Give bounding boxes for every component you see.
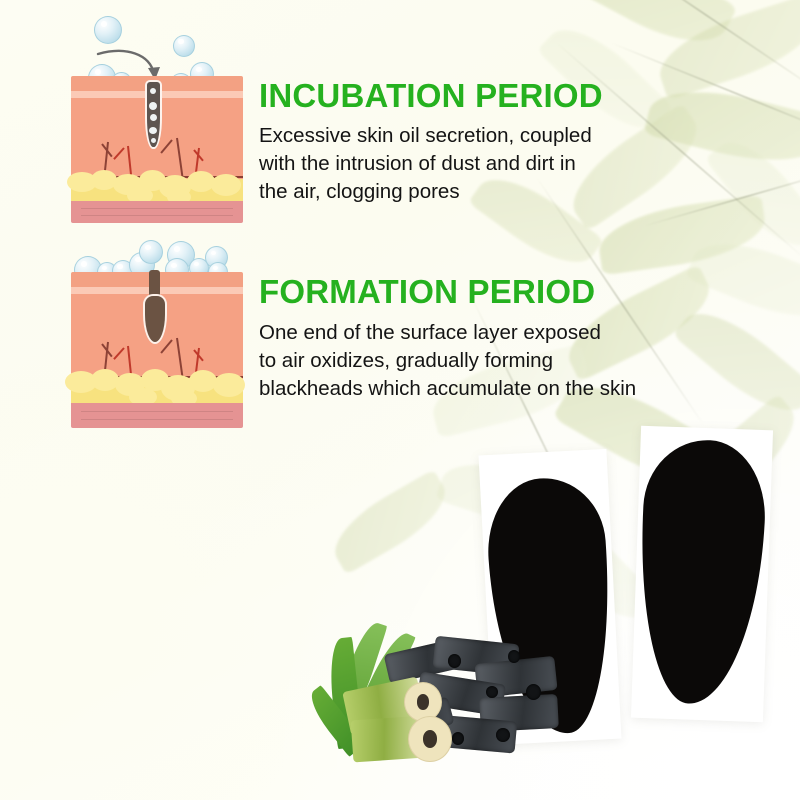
charcoal-hole [452, 732, 464, 745]
oil-bubble [173, 35, 195, 57]
body-line: Excessive skin oil secretion, coupled [259, 122, 592, 150]
bamboo-charcoal [330, 612, 560, 788]
hypodermis-layer [71, 201, 243, 223]
bamboo-cut-face [408, 716, 452, 762]
charcoal-hole [526, 684, 541, 700]
subcutaneous-fat-layer [71, 179, 243, 201]
charcoal-hole [496, 728, 510, 742]
section-body-formation: One end of the surface layer exposed to … [259, 319, 636, 403]
subcutaneous-fat-layer [71, 379, 243, 403]
skin-diagram-formation [71, 238, 243, 428]
oil-bubble [94, 16, 122, 44]
body-line: to air oxidizes, gradually forming [259, 347, 636, 375]
body-line: One end of the surface layer exposed [259, 319, 636, 347]
body-line: the air, clogging pores [259, 178, 592, 206]
charcoal-hole [486, 686, 498, 698]
skin-diagram-incubation [71, 16, 243, 216]
infographic-page: INCUBATION PERIOD Excessive skin oil sec… [0, 0, 800, 800]
charcoal-hole [448, 654, 461, 668]
section-title-formation: FORMATION PERIOD [259, 274, 595, 310]
clogged-pore [147, 82, 160, 147]
oil-bubble [139, 240, 163, 264]
charcoal-hole [508, 650, 520, 663]
section-body-incubation: Excessive skin oil secretion, coupled wi… [259, 122, 592, 206]
section-title-incubation: INCUBATION PERIOD [259, 78, 603, 114]
body-line: with the intrusion of dust and dirt in [259, 150, 592, 178]
hypodermis-layer [71, 403, 243, 428]
body-line: blackheads which accumulate on the skin [259, 375, 636, 403]
